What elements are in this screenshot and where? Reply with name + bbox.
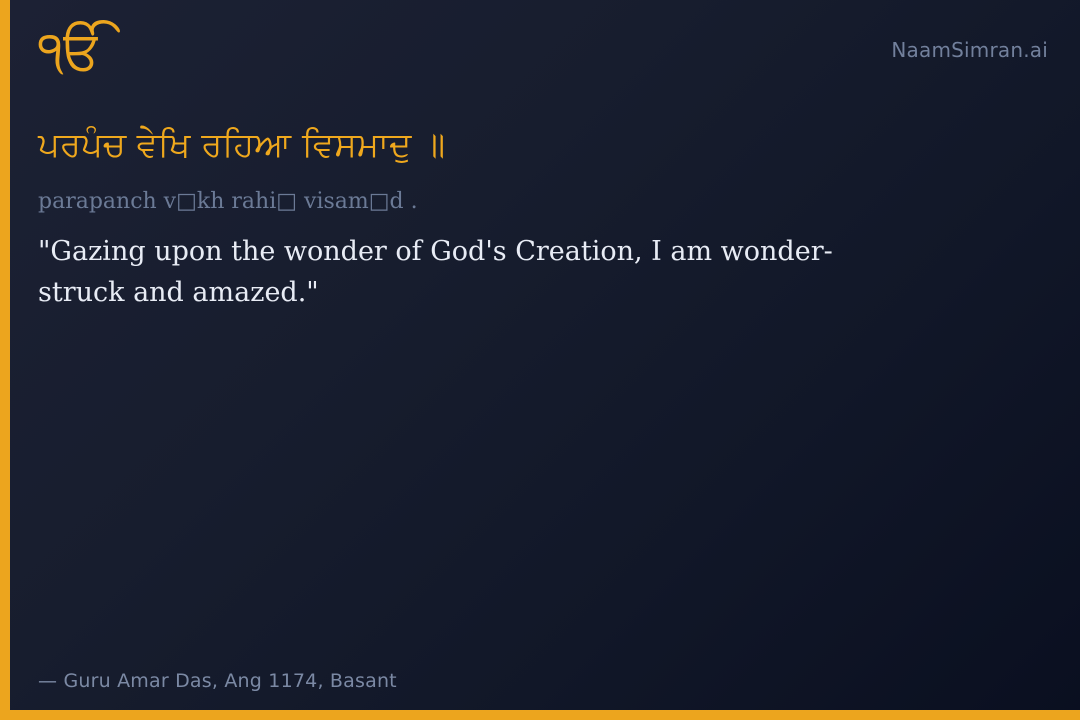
transliteration-line: parapanch v□kh rahi□ visam□d . bbox=[38, 188, 898, 217]
english-translation: "Gazing upon the wonder of God's Creatio… bbox=[38, 231, 868, 313]
ik-onkar-icon: ੴ bbox=[38, 24, 104, 78]
quote-attribution: — Guru Amar Das, Ang 1174, Basant bbox=[38, 670, 397, 692]
gurbani-quote-card: NaamSimran.ai ੴ ਪਰਪੰਚ ਵੇਖਿ ਰਹਿਆ ਵਿਸਮਾਦੁ … bbox=[0, 0, 1080, 720]
gold-left-accent-bar bbox=[0, 0, 10, 720]
gurmukhi-verse: ਪਰਪੰਚ ਵੇਖਿ ਰਹਿਆ ਵਿਸਮਾਦੁ ॥ bbox=[38, 124, 898, 168]
quote-content: ੴ ਪਰਪੰਚ ਵੇਖਿ ਰਹਿਆ ਵਿਸਮਾਦੁ ॥ parapanch v□… bbox=[38, 0, 918, 720]
